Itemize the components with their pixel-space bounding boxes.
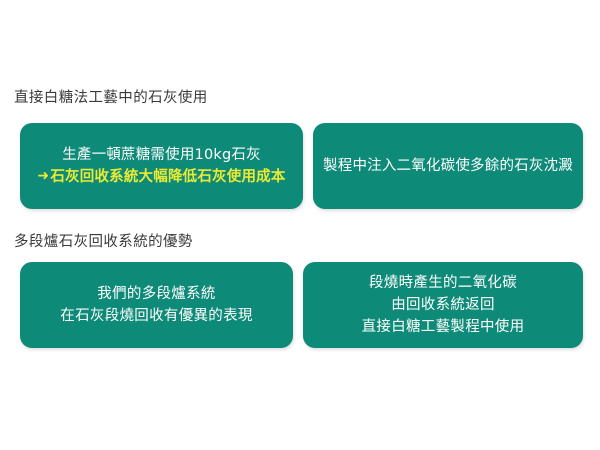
- section-heading-system-advantages: 多段爐石灰回收系統的優勢: [14, 233, 193, 251]
- card-line-highlight-text: 石灰回收系統大幅降低石灰使用成本: [50, 169, 285, 185]
- multi-hearth-performance-card: 我們的多段爐系統 在石灰段燒回收有優異的表現: [20, 262, 293, 348]
- section-heading-lime-usage: 直接白糖法工藝中的石灰使用: [14, 89, 208, 107]
- card-line: 由回收系統返回: [391, 294, 495, 316]
- card-line-highlight: ➜石灰回收系統大幅降低石灰使用成本: [37, 166, 285, 188]
- co2-injection-card: 製程中注入二氧化碳使多餘的石灰沈澱: [313, 123, 583, 209]
- card-line: 製程中注入二氧化碳使多餘的石灰沈澱: [323, 155, 573, 177]
- slide-canvas: 直接白糖法工藝中的石灰使用 生產一頓蔗糖需使用10kg石灰 ➜石灰回收系統大幅降…: [0, 0, 600, 450]
- arrow-right-icon: ➜: [37, 165, 49, 187]
- co2-recycle-card: 段燒時產生的二氧化碳 由回收系統返回 直接白糖工藝製程中使用: [303, 262, 583, 348]
- card-line: 生產一頓蔗糖需使用10kg石灰: [62, 144, 261, 166]
- card-line: 我們的多段爐系統: [97, 283, 215, 305]
- card-line: 直接白糖工藝製程中使用: [362, 316, 525, 338]
- lime-consumption-card: 生產一頓蔗糖需使用10kg石灰 ➜石灰回收系統大幅降低石灰使用成本: [20, 123, 303, 209]
- card-line: 段燒時產生的二氧化碳: [369, 272, 517, 294]
- card-line: 在石灰段燒回收有優異的表現: [60, 305, 252, 327]
